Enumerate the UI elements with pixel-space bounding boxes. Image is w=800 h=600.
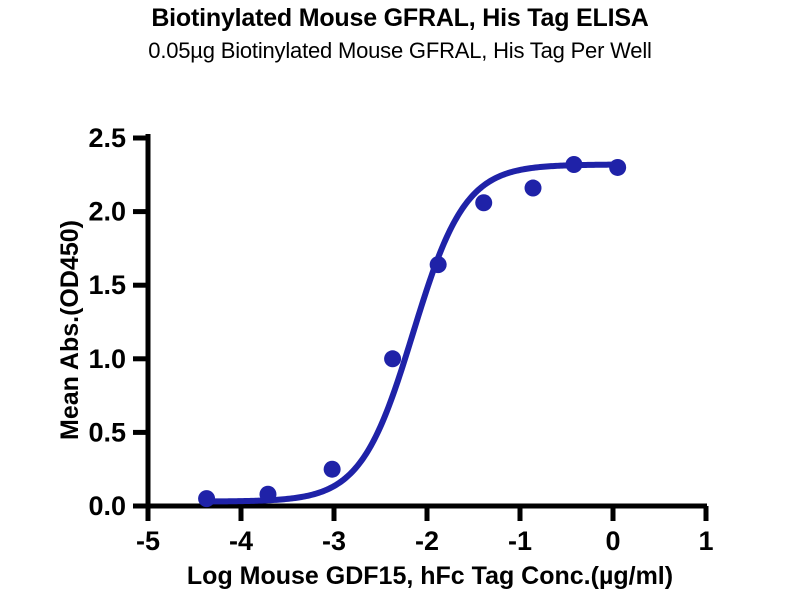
data-point bbox=[384, 350, 401, 367]
data-point bbox=[609, 159, 626, 176]
y-tick-label: 2.5 bbox=[88, 123, 126, 153]
data-point bbox=[475, 194, 492, 211]
chart-figure: Biotinylated Mouse GFRAL, His Tag ELISA … bbox=[0, 0, 800, 600]
y-tick-label: 0.5 bbox=[88, 417, 126, 447]
y-axis-title: Mean Abs.(OD450) bbox=[56, 220, 84, 440]
x-tick-label: -1 bbox=[508, 526, 532, 556]
x-tick-label: -3 bbox=[322, 526, 346, 556]
x-tick-label: -2 bbox=[415, 526, 439, 556]
x-tick-label: -5 bbox=[136, 526, 160, 556]
x-tick-label: 1 bbox=[698, 526, 713, 556]
y-tick-label: 1.0 bbox=[88, 344, 126, 374]
y-tick-label: 0.0 bbox=[88, 491, 126, 521]
plot-area: 0.00.51.01.52.02.5 -5-4-3-2-101 Mean Abs… bbox=[0, 0, 800, 600]
y-tick-label: 2.0 bbox=[88, 197, 126, 227]
data-point bbox=[198, 490, 215, 507]
fit-curve bbox=[207, 165, 618, 502]
x-tick-label-group: -5-4-3-2-101 bbox=[136, 526, 714, 556]
data-point bbox=[259, 486, 276, 503]
x-axis-title: Log Mouse GDF15, hFc Tag Conc.(µg/ml) bbox=[187, 562, 673, 590]
x-tick-label: 0 bbox=[605, 526, 620, 556]
y-tick-label-group: 0.00.51.01.52.02.5 bbox=[88, 123, 126, 521]
data-point bbox=[565, 156, 582, 173]
y-tick-label: 1.5 bbox=[88, 270, 126, 300]
data-point bbox=[324, 461, 341, 478]
data-point bbox=[430, 256, 447, 273]
data-point bbox=[525, 180, 542, 197]
x-tick-label: -4 bbox=[229, 526, 253, 556]
